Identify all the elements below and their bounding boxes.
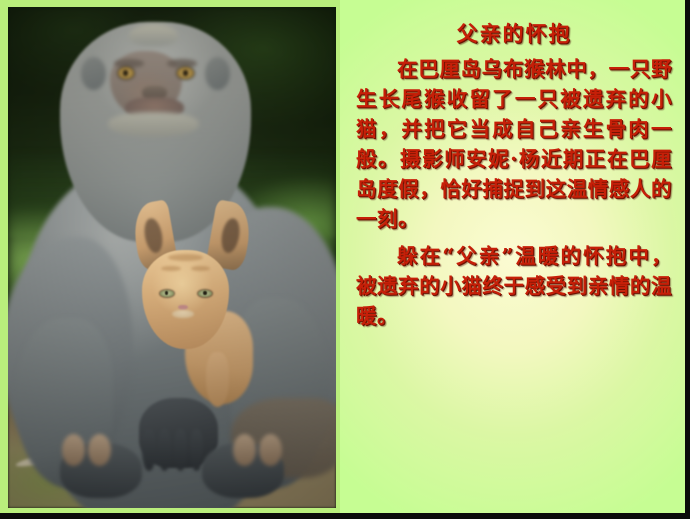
- macaque-right-ear: [205, 57, 230, 90]
- monkey-and-kitten-photo: [8, 7, 336, 508]
- presentation-slide: 父亲的怀抱 在巴厘岛乌布猴林中，一只野生长尾猴收留了一只被遗弃的小猫，并把它当成…: [0, 0, 690, 519]
- kitten-right-inner-ear: [218, 217, 241, 254]
- macaque-finger: [190, 429, 203, 471]
- kitten-left-eye: [160, 290, 174, 297]
- body-paragraph-2: 躲在“父亲”温暖的怀抱中，被遗弃的小猫终于感受到亲情的温暖。: [356, 241, 672, 331]
- kitten-tabby-stripe: [161, 266, 180, 271]
- macaque-toe: [88, 434, 111, 466]
- kitten-right-pupil: [203, 291, 207, 295]
- body-paragraph-1: 在巴厘岛乌布猴林中，一只野生长尾猴收留了一只被遗弃的小猫，并把它当成自己亲生骨肉…: [356, 54, 672, 235]
- macaque-right-eye: [177, 67, 193, 79]
- macaque-toe: [259, 434, 282, 466]
- macaque-finger: [158, 429, 171, 471]
- text-panel: 父亲的怀抱 在巴厘岛乌布猴林中，一只野生长尾猴收留了一只被遗弃的小猫，并把它当成…: [340, 0, 686, 514]
- macaque-left-pupil: [123, 70, 128, 75]
- kitten: [133, 227, 251, 387]
- macaque-right-foot: [202, 443, 284, 498]
- macaque-toe: [62, 434, 85, 466]
- macaque-toe: [233, 434, 256, 466]
- kitten-left-pupil: [165, 291, 169, 295]
- macaque-head-crest: [129, 24, 178, 46]
- kitten-forehead-stripe: [168, 254, 203, 261]
- slide-title: 父亲的怀抱: [356, 22, 672, 47]
- macaque-left-eye: [118, 67, 134, 79]
- text-content: 父亲的怀抱 在巴厘岛乌布猴林中，一只野生长尾猴收留了一只被遗弃的小猫，并把它当成…: [340, 0, 686, 331]
- macaque-finger: [174, 429, 187, 471]
- right-border: [685, 0, 690, 519]
- macaque-right-pupil: [183, 70, 188, 75]
- macaque-finger: [142, 429, 155, 471]
- macaque-chin: [108, 112, 199, 136]
- macaque-left-ear: [81, 57, 106, 90]
- kitten-right-eye: [198, 290, 212, 297]
- kitten-muzzle: [172, 310, 195, 319]
- kitten-tabby-stripe: [191, 266, 210, 271]
- macaque-left-foot: [60, 443, 142, 498]
- photo-panel: [0, 0, 340, 519]
- kitten-left-inner-ear: [142, 217, 165, 254]
- bottom-border: [0, 513, 690, 519]
